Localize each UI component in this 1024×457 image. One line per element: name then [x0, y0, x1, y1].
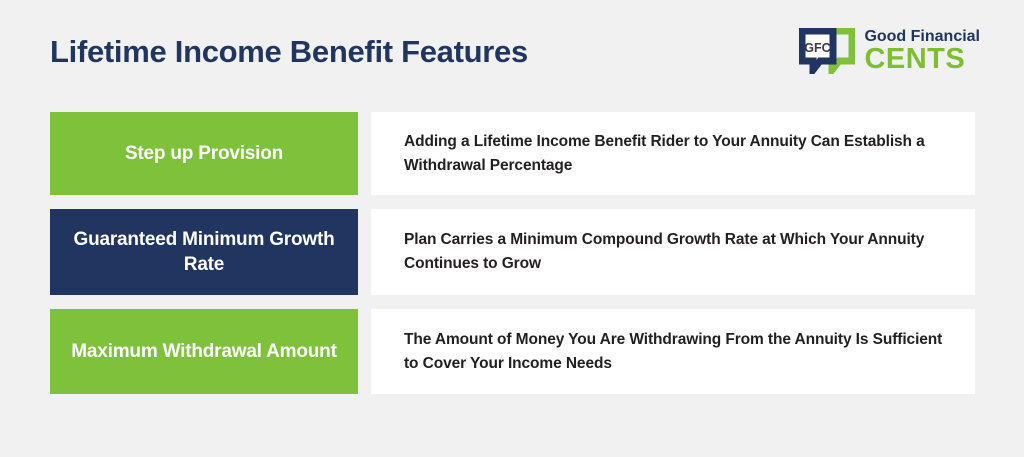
feature-row: Maximum Withdrawal Amount The Amount of … [50, 309, 975, 394]
gfc-logo: GFC Good Financial CENTS [799, 26, 980, 74]
page-header: Lifetime Income Benefit Features GFC Goo… [0, 0, 1024, 100]
page-title: Lifetime Income Benefit Features [50, 31, 528, 69]
logo-line-cents: CENTS [864, 46, 980, 74]
feature-row: Guaranteed Minimum Growth Rate Plan Carr… [50, 209, 975, 295]
feature-label: Maximum Withdrawal Amount [71, 339, 336, 364]
logo-mark-text: GFC [805, 41, 831, 55]
feature-label: Step up Provision [125, 141, 283, 166]
feature-description-card: Adding a Lifetime Income Benefit Rider t… [371, 112, 975, 195]
features-list: Step up Provision Adding a Lifetime Inco… [50, 112, 975, 394]
logo-wordmark: Good Financial CENTS [864, 29, 980, 74]
feature-row: Step up Provision Adding a Lifetime Inco… [50, 112, 975, 195]
feature-description: The Amount of Money You Are Withdrawing … [404, 328, 943, 375]
feature-description-card: Plan Carries a Minimum Compound Growth R… [371, 209, 975, 295]
feature-label-card-guaranteed-minimum-growth-rate: Guaranteed Minimum Growth Rate [50, 209, 358, 295]
speech-bubbles-icon: GFC [799, 28, 855, 74]
feature-label: Guaranteed Minimum Growth Rate [68, 227, 340, 277]
feature-description: Plan Carries a Minimum Compound Growth R… [404, 228, 943, 275]
feature-label-card-step-up-provision: Step up Provision [50, 112, 358, 195]
feature-label-card-maximum-withdrawal-amount: Maximum Withdrawal Amount [50, 309, 358, 394]
feature-description: Adding a Lifetime Income Benefit Rider t… [404, 130, 943, 177]
feature-description-card: The Amount of Money You Are Withdrawing … [371, 309, 975, 394]
